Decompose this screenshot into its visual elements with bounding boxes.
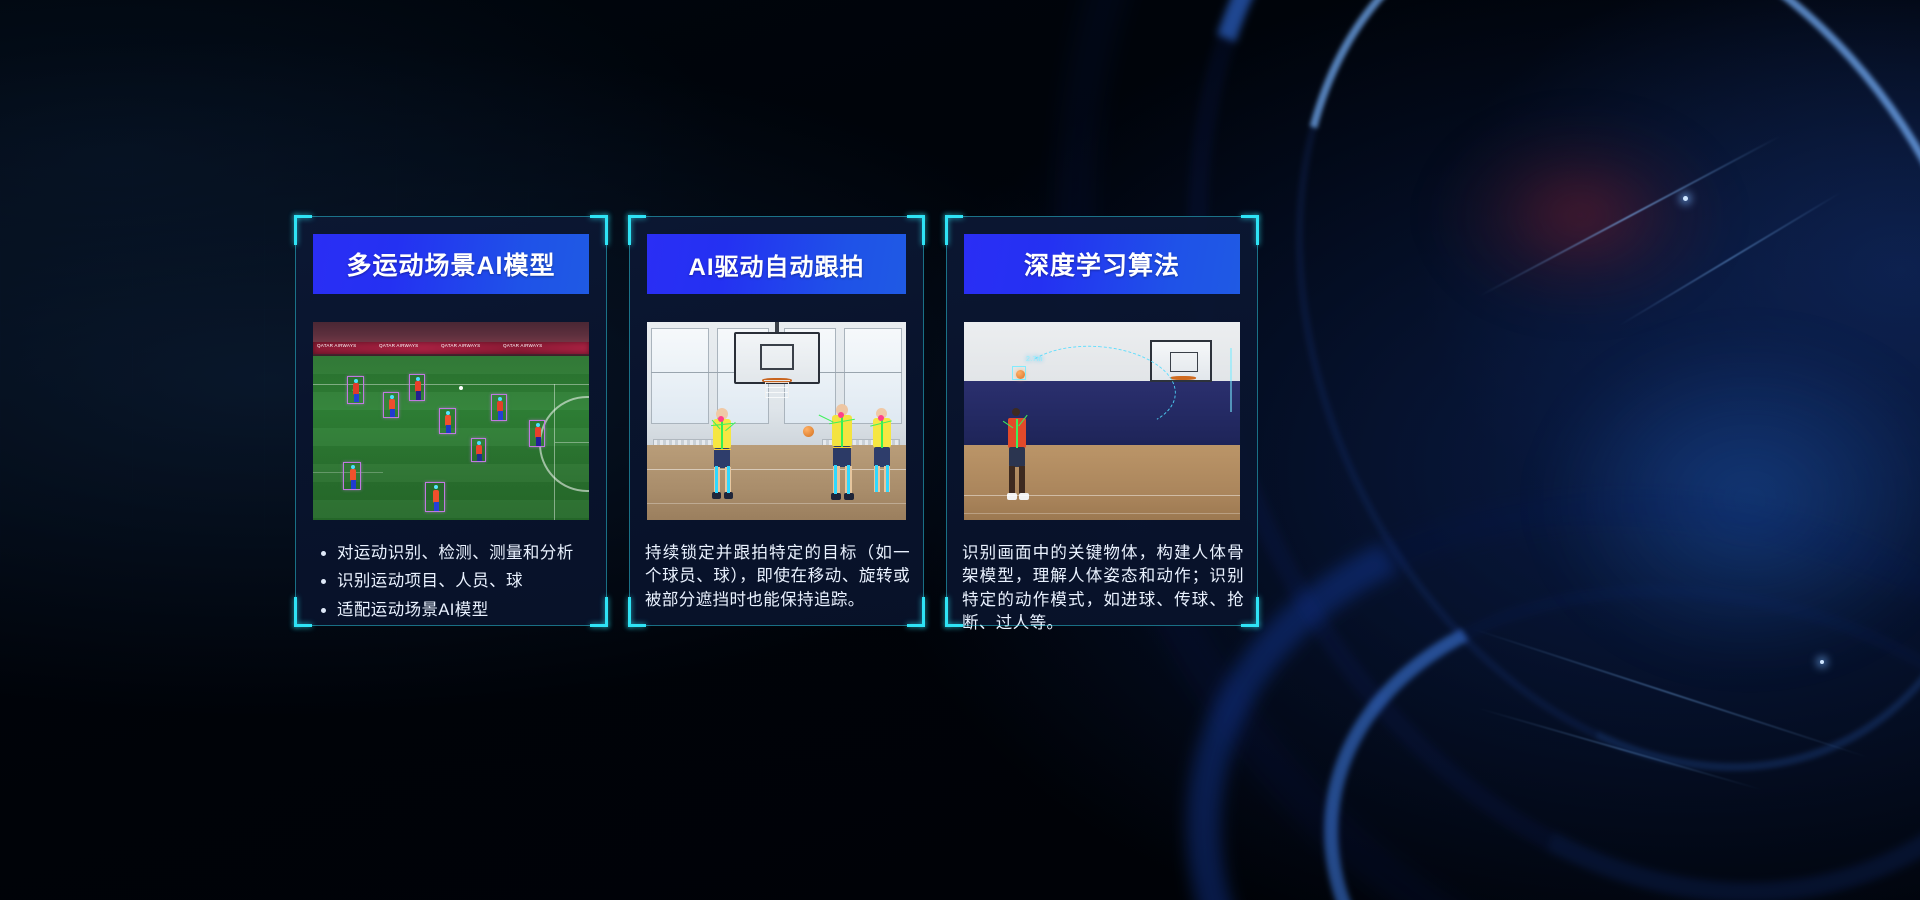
soccer-pitch-detection-thumbnail: QATAR AIRWAYS QATAR AIRWAYS QATAR AIRWAY… — [313, 322, 589, 520]
feature-card-ai-auto-tracking[interactable]: AI驱动自动跟拍 — [629, 216, 924, 626]
feature-card-multi-sport-ai-model[interactable]: 多运动场景AI模型 QATAR AIRWAYS QATAR AIRWAYS QA… — [295, 216, 607, 626]
card-paragraph-text: 识别画面中的关键物体，构建人体骨架模型，理解人体姿态和动作；识别特定的动作模式，… — [962, 542, 1244, 636]
corner-bracket-bottom-left — [294, 597, 312, 627]
card-title-banner: AI驱动自动跟拍 — [647, 234, 906, 294]
card-edge-right — [606, 245, 607, 597]
card-edge-bottom — [646, 625, 907, 626]
list-item: 适配运动场景AI模型 — [315, 599, 593, 622]
court-shot-trajectory-thumbnail: 2.7m — [964, 322, 1240, 520]
card-edge-left — [295, 245, 296, 597]
bullet-icon — [321, 551, 326, 556]
card-edge-top — [646, 216, 907, 217]
shot-height-label: 2.7m — [1026, 356, 1043, 363]
background-spark-2 — [1820, 660, 1824, 664]
corner-bracket-bottom-left — [628, 597, 646, 627]
bullet-label: 识别运动项目、人员、球 — [337, 570, 593, 593]
card-edge-left — [629, 245, 630, 597]
card-edge-right — [923, 245, 924, 597]
card-paragraph-text: 持续锁定并跟拍特定的目标（如一个球员、球），即使在移动、旋转或被部分遮挡时也能保… — [645, 542, 910, 612]
slide-canvas: 多运动场景AI模型 QATAR AIRWAYS QATAR AIRWAYS QA… — [0, 0, 1920, 900]
bullet-icon — [321, 579, 326, 584]
card-title-banner: 深度学习算法 — [964, 234, 1240, 294]
card-bullet-list: 对运动识别、检测、测量和分析 识别运动项目、人员、球 适配运动场景AI模型 — [311, 542, 593, 622]
feature-card-deep-learning-algorithm[interactable]: 深度学习算法 2.7m — [946, 216, 1258, 626]
card-edge-right — [1257, 245, 1258, 597]
corner-bracket-bottom-left — [945, 597, 963, 627]
corner-bracket-top-right — [590, 215, 608, 245]
bullet-icon — [321, 608, 326, 613]
card-title-banner: 多运动场景AI模型 — [313, 234, 589, 294]
corner-bracket-top-left — [294, 215, 312, 245]
bullet-label: 对运动识别、检测、测量和分析 — [337, 542, 593, 565]
card-edge-top — [312, 216, 590, 217]
corner-bracket-top-right — [907, 215, 925, 245]
gym-pose-tracking-thumbnail — [647, 322, 906, 520]
card-edge-bottom — [963, 625, 1241, 626]
list-item: 对运动识别、检测、测量和分析 — [315, 542, 593, 565]
list-item: 识别运动项目、人员、球 — [315, 570, 593, 593]
card-paragraph: 识别画面中的关键物体，构建人体骨架模型，理解人体姿态和动作；识别特定的动作模式，… — [962, 542, 1244, 636]
card-paragraph: 持续锁定并跟拍特定的目标（如一个球员、球），即使在移动、旋转或被部分遮挡时也能保… — [645, 542, 910, 612]
background-spark-1 — [1683, 196, 1688, 201]
corner-bracket-top-left — [945, 215, 963, 245]
feature-card-row: 多运动场景AI模型 QATAR AIRWAYS QATAR AIRWAYS QA… — [295, 216, 1258, 626]
bullet-label: 适配运动场景AI模型 — [337, 599, 593, 622]
corner-bracket-top-left — [628, 215, 646, 245]
card-edge-bottom — [312, 625, 590, 626]
card-edge-top — [963, 216, 1241, 217]
corner-bracket-top-right — [1241, 215, 1259, 245]
card-edge-left — [946, 245, 947, 597]
